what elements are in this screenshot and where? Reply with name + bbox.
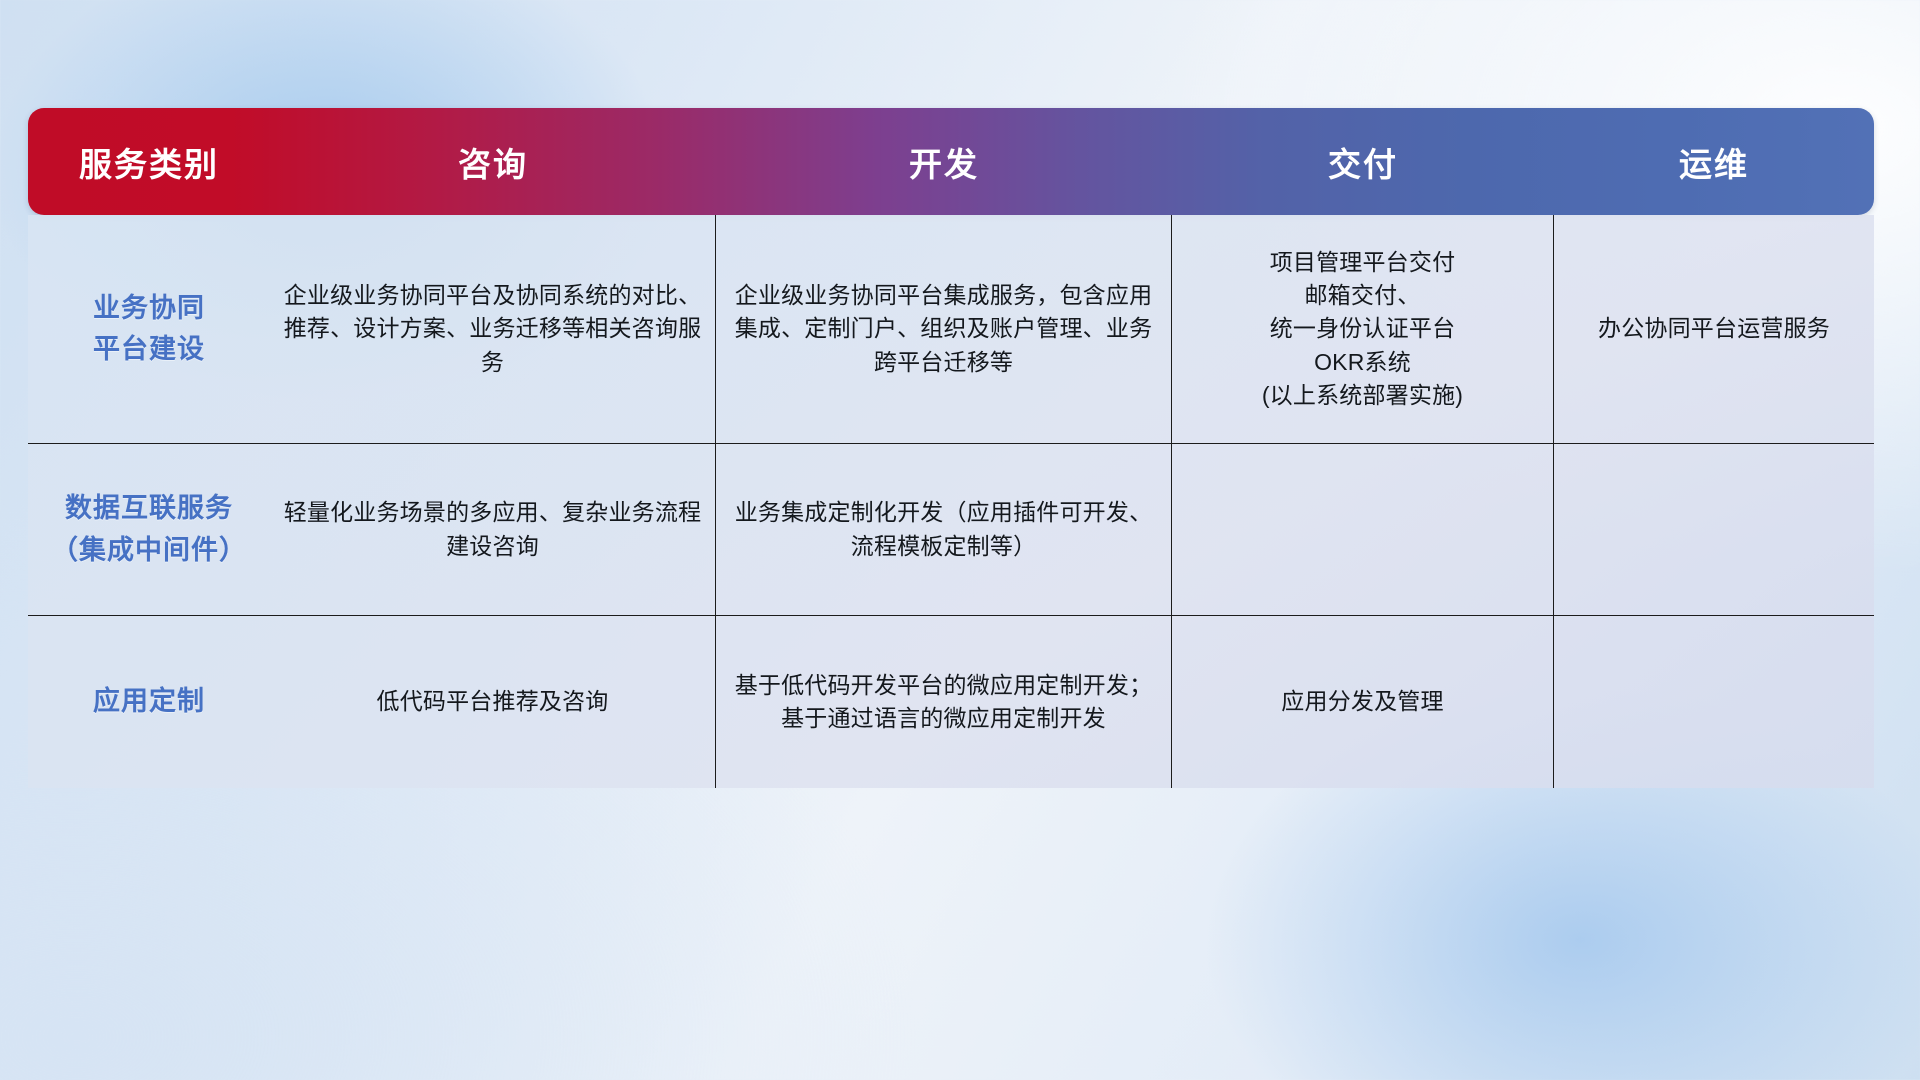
column-header-operations: 运维 [1554,138,1874,186]
table-row: 业务协同 平台建设 企业级业务协同平台及协同系统的对比、推荐、设计方案、业务迁移… [28,215,1874,444]
cell-operations [1554,616,1874,788]
row-category-label: 数据互联服务 （集成中间件） [51,488,247,570]
cell-operations-text: 办公协同平台运营服务 [1598,312,1830,345]
row-category-label: 业务协同 平台建设 [93,288,205,370]
table-row: 数据互联服务 （集成中间件） 轻量化业务场景的多应用、复杂业务流程建设咨询 业务… [28,444,1874,616]
cell-consulting-text: 低代码平台推荐及咨询 [377,685,609,718]
cell-development: 基于低代码开发平台的微应用定制开发； 基于通过语言的微应用定制开发 [716,616,1172,788]
table-header-row: 服务类别 咨询 开发 交付 运维 [28,108,1874,215]
row-category-label: 应用定制 [93,681,205,722]
cell-development-text: 业务集成定制化开发（应用插件可开发、流程模板定制等） [728,496,1159,563]
cell-consulting: 企业级业务协同平台及协同系统的对比、推荐、设计方案、业务迁移等相关咨询服务 [270,215,716,443]
row-category-cell: 应用定制 [28,616,270,788]
column-header-delivery: 交付 [1172,138,1554,186]
row-category-cell: 数据互联服务 （集成中间件） [28,444,270,615]
column-header-consulting: 咨询 [270,138,716,186]
cell-development-text: 企业级业务协同平台集成服务，包含应用集成、定制门户、组织及账户管理、业务跨平台迁… [728,279,1159,379]
cell-development-text: 基于低代码开发平台的微应用定制开发； 基于通过语言的微应用定制开发 [735,669,1153,736]
cell-delivery-text: 项目管理平台交付 邮箱交付、 统一身份认证平台 OKR系统 (以上系统部署实施) [1262,246,1463,413]
row-category-cell: 业务协同 平台建设 [28,215,270,443]
column-header-category: 服务类别 [28,138,270,186]
cell-delivery [1172,444,1554,615]
table-body: 业务协同 平台建设 企业级业务协同平台及协同系统的对比、推荐、设计方案、业务迁移… [28,215,1874,788]
cell-consulting-text: 企业级业务协同平台及协同系统的对比、推荐、设计方案、业务迁移等相关咨询服务 [282,279,703,379]
cell-consulting: 低代码平台推荐及咨询 [270,616,716,788]
cell-delivery: 应用分发及管理 [1172,616,1554,788]
cell-delivery: 项目管理平台交付 邮箱交付、 统一身份认证平台 OKR系统 (以上系统部署实施) [1172,215,1554,443]
cell-operations [1554,444,1874,615]
service-matrix-table: 服务类别 咨询 开发 交付 运维 业务协同 平台建设 企业级业务协同平台及协同系… [28,108,1874,788]
table-row: 应用定制 低代码平台推荐及咨询 基于低代码开发平台的微应用定制开发； 基于通过语… [28,616,1874,788]
cell-operations: 办公协同平台运营服务 [1554,215,1874,443]
cell-consulting: 轻量化业务场景的多应用、复杂业务流程建设咨询 [270,444,716,615]
cell-development: 企业级业务协同平台集成服务，包含应用集成、定制门户、组织及账户管理、业务跨平台迁… [716,215,1172,443]
cell-development: 业务集成定制化开发（应用插件可开发、流程模板定制等） [716,444,1172,615]
column-header-development: 开发 [716,138,1172,186]
cell-consulting-text: 轻量化业务场景的多应用、复杂业务流程建设咨询 [282,496,703,563]
cell-delivery-text: 应用分发及管理 [1281,685,1443,718]
